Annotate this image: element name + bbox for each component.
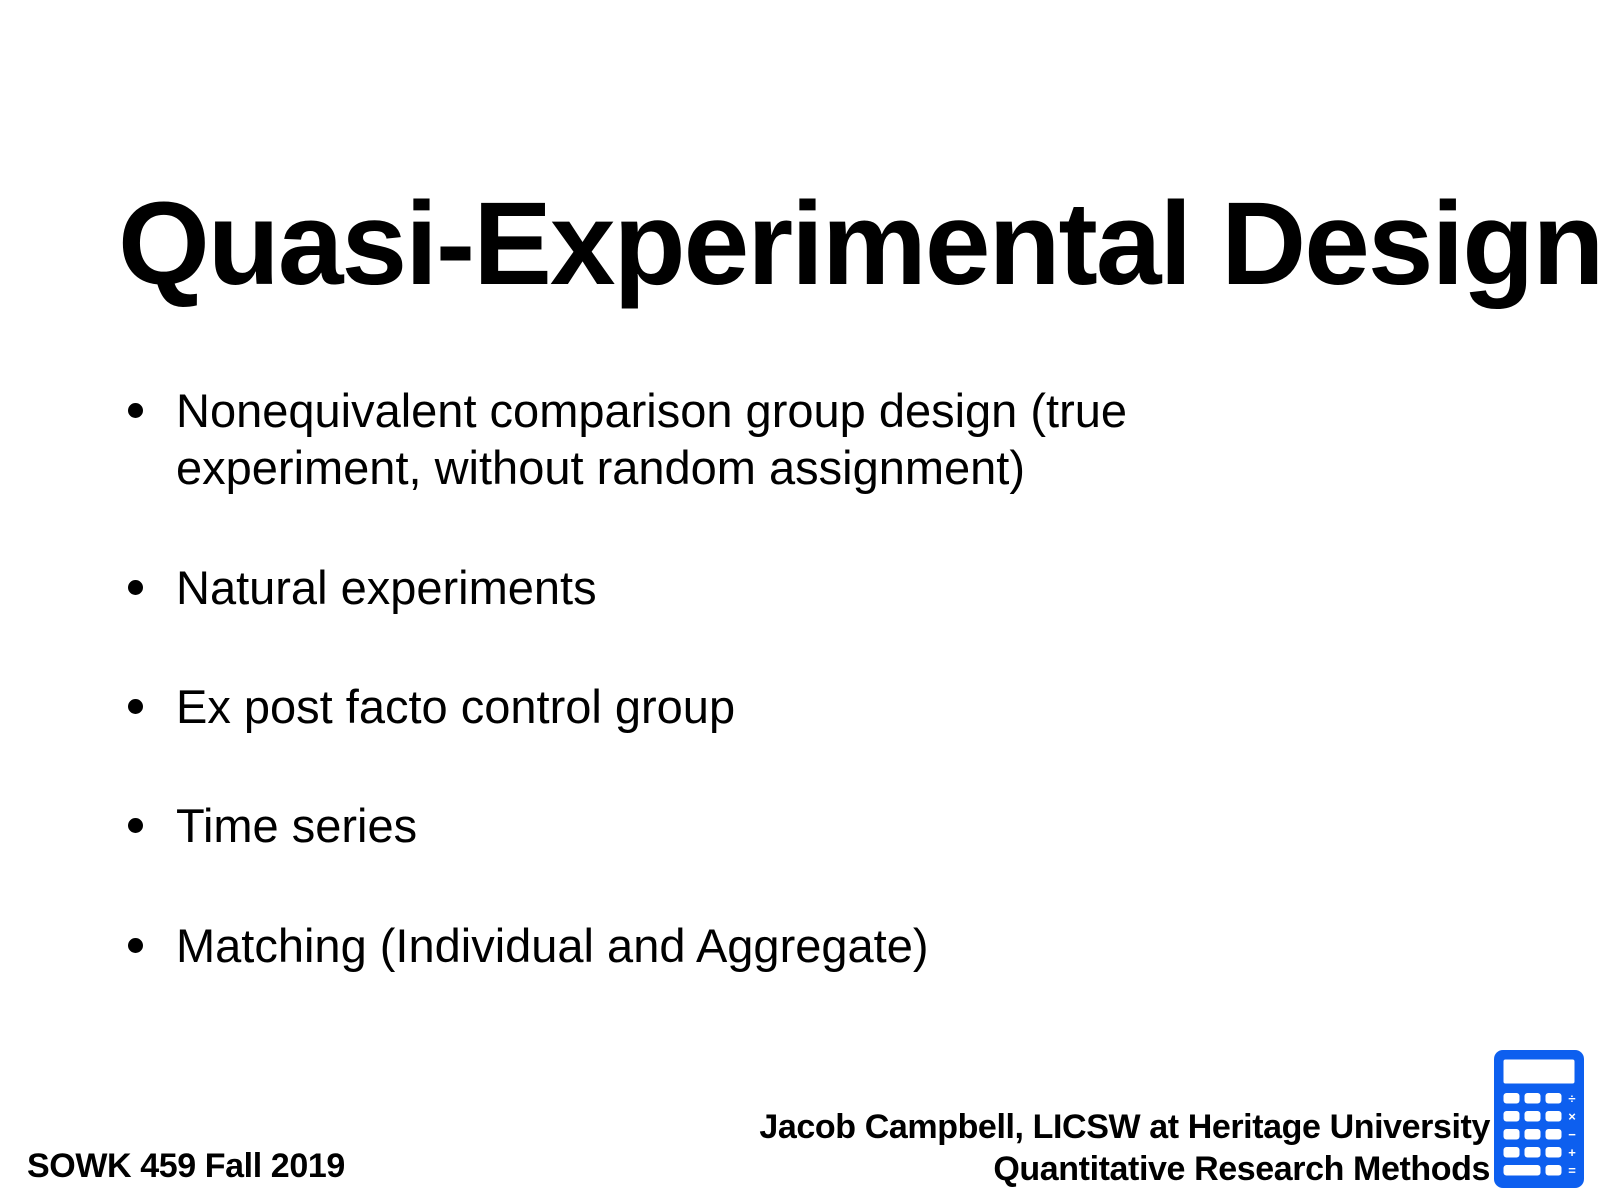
list-item-label: Natural experiments [176, 559, 1236, 616]
footer-course-label: SOWK 459 Fall 2019 [27, 1147, 345, 1186]
footer-presenter-line-2: Quantitative Research Methods [759, 1149, 1490, 1190]
list-item: Matching (Individual and Aggregate) [120, 917, 1320, 974]
list-item: Time series [120, 797, 1320, 854]
footer-presenter-line-1: Jacob Campbell, LICSW at Heritage Univer… [759, 1107, 1490, 1148]
svg-text:−: − [1568, 1127, 1576, 1142]
list-item-label: Matching (Individual and Aggregate) [176, 917, 1236, 974]
list-item-label: Time series [176, 797, 1236, 854]
calculator-icon: ÷ × − + = [1494, 1050, 1584, 1188]
bullet-list: Nonequivalent comparison group design (t… [120, 382, 1320, 974]
svg-text:=: = [1568, 1163, 1576, 1178]
page-title: Quasi-Experimental Design [118, 183, 1518, 307]
bullet-dot-icon [128, 580, 143, 595]
svg-text:×: × [1568, 1109, 1576, 1124]
list-item: Nonequivalent comparison group design (t… [120, 382, 1320, 497]
presentation-slide: Quasi-Experimental Design Nonequivalent … [0, 0, 1600, 1200]
list-item-label: Ex post facto control group [176, 678, 1236, 735]
bullet-dot-icon [128, 938, 143, 953]
svg-text:÷: ÷ [1568, 1091, 1575, 1106]
bullet-dot-icon [128, 403, 143, 418]
list-item-label: Nonequivalent comparison group design (t… [176, 382, 1236, 497]
bullet-dot-icon [128, 699, 143, 714]
svg-text:+: + [1568, 1145, 1576, 1160]
list-item: Natural experiments [120, 559, 1320, 616]
bullet-dot-icon [128, 818, 143, 833]
list-item: Ex post facto control group [120, 678, 1320, 735]
footer-presenter-block: Jacob Campbell, LICSW at Heritage Univer… [759, 1107, 1490, 1190]
